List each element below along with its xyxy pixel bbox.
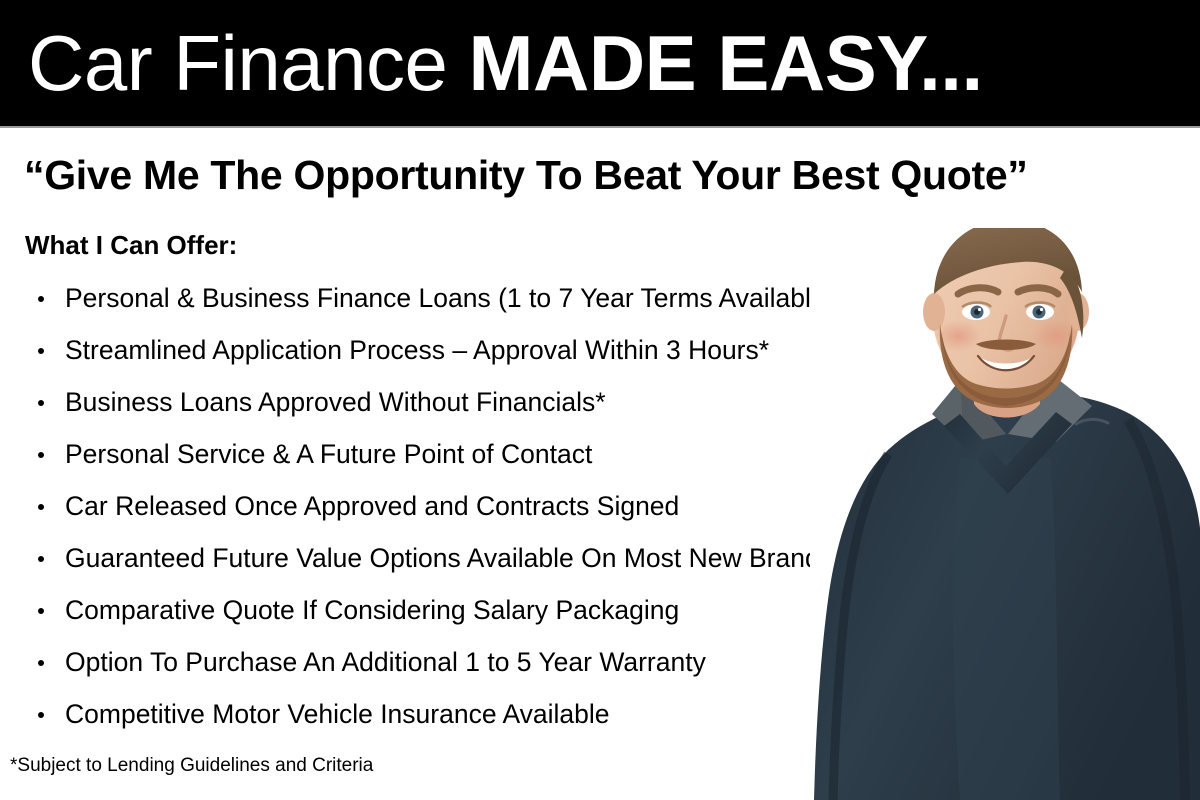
banner-title-light: Car Finance [28, 19, 469, 107]
list-item: Business Loans Approved Without Financia… [25, 376, 905, 428]
offers-list: Personal & Business Finance Loans (1 to … [25, 272, 905, 740]
bullet-icon [38, 296, 44, 302]
banner-title: Car Finance MADE EASY... [28, 17, 983, 109]
bullet-icon [38, 712, 44, 718]
list-item: Guaranteed Future Value Options Availabl… [25, 532, 905, 584]
list-item-label: Comparative Quote If Considering Salary … [65, 595, 679, 625]
poster-canvas: Car Finance MADE EASY... “Give Me The Op… [0, 0, 1200, 800]
list-item: Comparative Quote If Considering Salary … [25, 584, 905, 636]
bullet-icon [38, 348, 44, 354]
offers-heading: What I Can Offer: [25, 230, 237, 261]
portrait-photo [810, 228, 1200, 800]
footnote-disclaimer: *Subject to Lending Guidelines and Crite… [10, 755, 373, 777]
portrait-illustration [810, 228, 1200, 800]
list-item-label: Streamlined Application Process – Approv… [65, 335, 769, 365]
list-item-label: Personal & Business Finance Loans (1 to … [65, 283, 834, 313]
list-item: Streamlined Application Process – Approv… [25, 324, 905, 376]
list-item-label: Competitive Motor Vehicle Insurance Avai… [65, 699, 610, 729]
bullet-icon [38, 400, 44, 406]
bullet-icon [38, 556, 44, 562]
bullet-icon [38, 660, 44, 666]
list-item-label: Personal Service & A Future Point of Con… [65, 439, 592, 469]
banner-divider [0, 126, 1200, 128]
list-item: Personal & Business Finance Loans (1 to … [25, 272, 905, 324]
headline-quote: “Give Me The Opportunity To Beat Your Be… [24, 152, 1184, 199]
list-item-label: Business Loans Approved Without Financia… [65, 387, 606, 417]
list-item: Car Released Once Approved and Contracts… [25, 480, 905, 532]
bullet-icon [38, 452, 44, 458]
list-item: Personal Service & A Future Point of Con… [25, 428, 905, 480]
bullet-icon [38, 608, 44, 614]
list-item-label: Guaranteed Future Value Options Availabl… [65, 543, 833, 573]
bullet-icon [38, 504, 44, 510]
list-item: Option To Purchase An Additional 1 to 5 … [25, 636, 905, 688]
banner-title-bold: MADE EASY... [469, 19, 983, 107]
list-item: Competitive Motor Vehicle Insurance Avai… [25, 688, 905, 740]
header-banner: Car Finance MADE EASY... [0, 0, 1200, 126]
list-item-label: Option To Purchase An Additional 1 to 5 … [65, 647, 706, 677]
list-item-label: Car Released Once Approved and Contracts… [65, 491, 679, 521]
